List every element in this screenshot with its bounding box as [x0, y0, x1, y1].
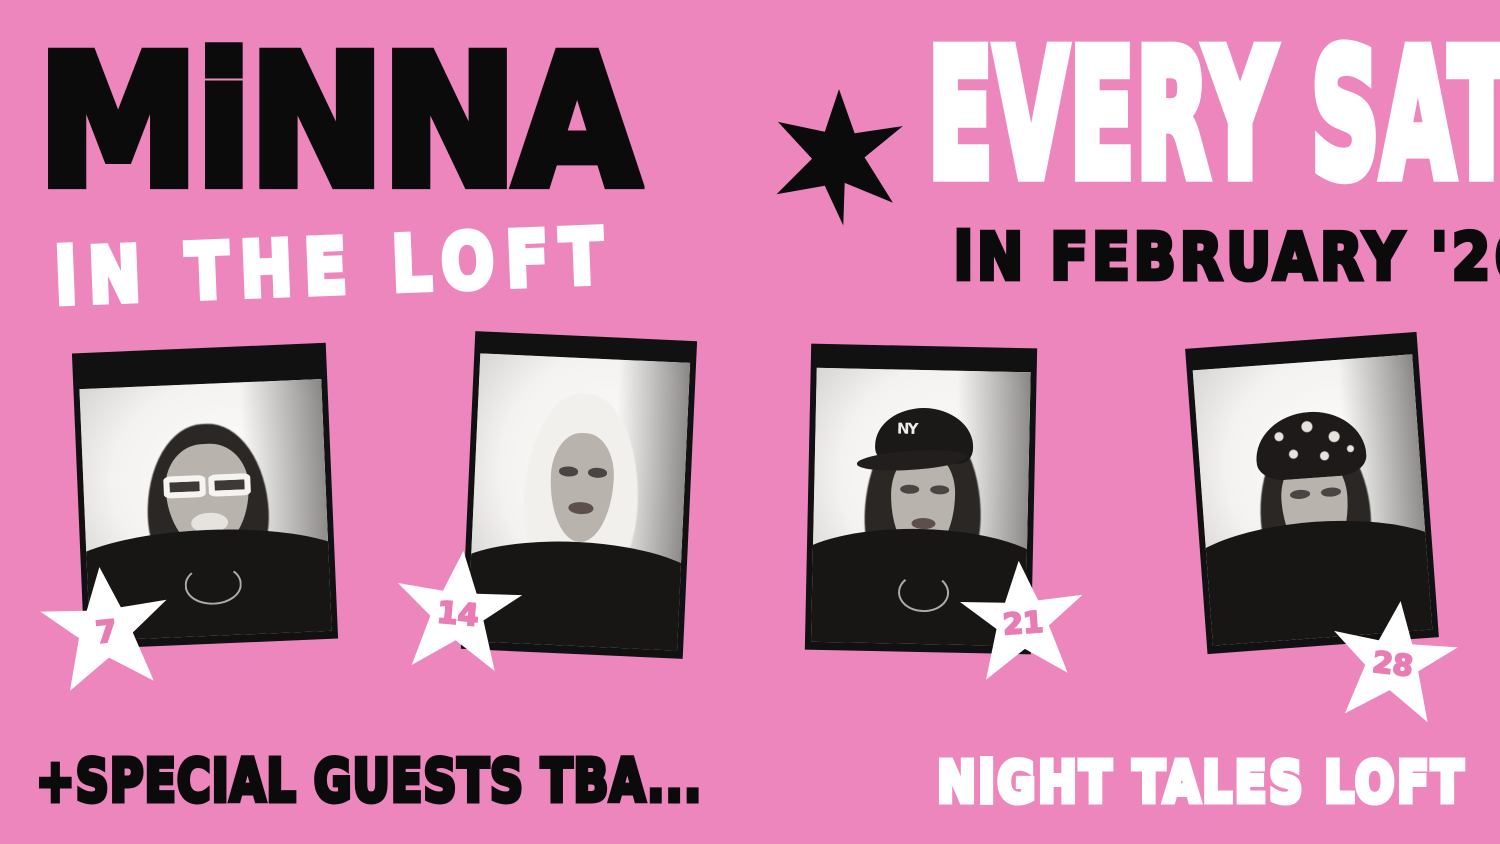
- venue-name: NiGHT TALES LOFT: [937, 754, 1466, 810]
- date-star-28: 28: [1319, 590, 1468, 735]
- ny-cap: NY: [875, 407, 975, 464]
- bandana: [1253, 408, 1368, 482]
- special-guests-text: +SPECIAL GUESTS TBA...: [36, 752, 702, 811]
- date-star-14: 14: [387, 542, 530, 683]
- date-star-21: 21: [954, 554, 1093, 691]
- event-poster: MiNNA iN THE LOFT EVERY SATURDAY iN FEBR…: [0, 0, 1500, 844]
- photo-strip: NY: [0, 0, 1500, 844]
- date-star-7: 7: [31, 557, 180, 702]
